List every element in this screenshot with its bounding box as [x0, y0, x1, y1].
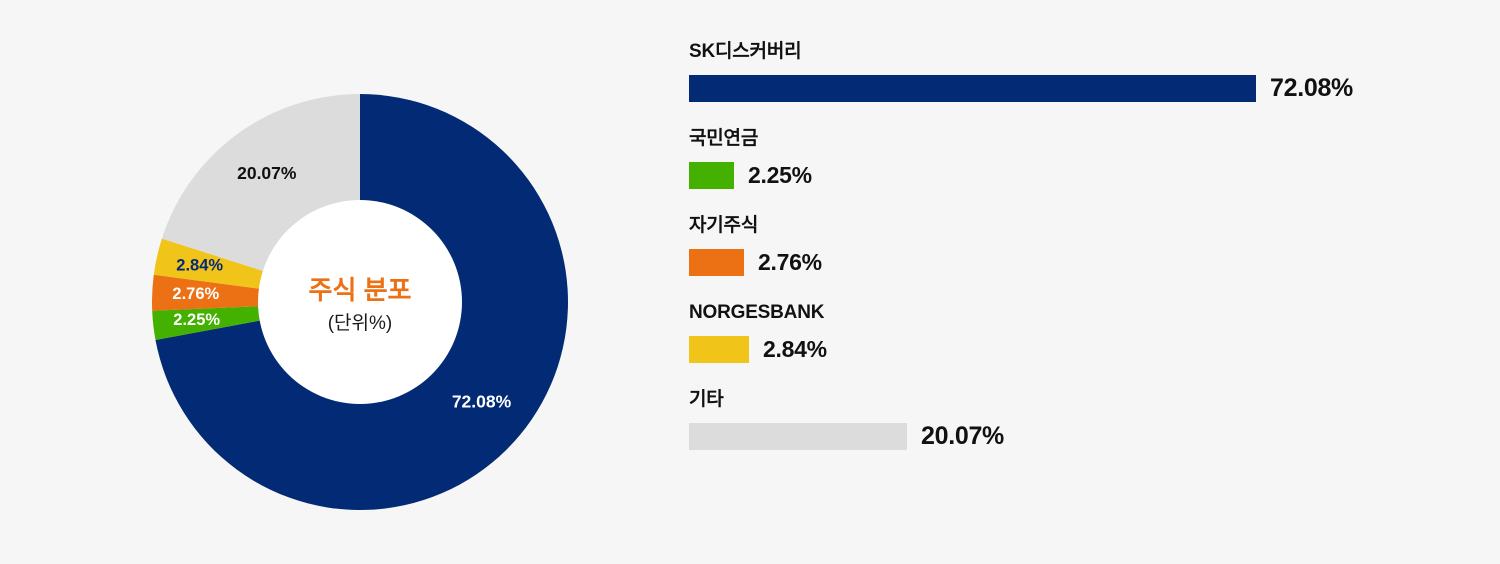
legend-item-row: 72.08%	[689, 75, 1449, 102]
legend-item-label: SK디스커버리	[689, 42, 1449, 61]
legend-item-label: 기타	[689, 390, 1449, 409]
legend-value: 2.76%	[758, 251, 822, 274]
legend-bar	[689, 423, 907, 450]
legend-list: SK디스커버리 72.08% 국민연금 2.25% 자기주식 2.76% NOR…	[689, 42, 1449, 450]
donut-label-기타: 20.07%	[237, 163, 297, 183]
legend-bar	[689, 162, 734, 189]
donut-label-norgesbank: 2.84%	[176, 256, 223, 274]
legend-item-row: 2.76%	[689, 249, 1449, 276]
legend-item-norgesbank[interactable]: NORGESBANK 2.84%	[689, 303, 1449, 363]
donut-label-sk디스커버리: 72.08%	[452, 392, 512, 412]
donut-center-subtitle: (단위%)	[328, 312, 393, 334]
legend-bar	[689, 249, 744, 276]
legend-item-기타[interactable]: 기타 20.07%	[689, 390, 1449, 450]
legend-item-자기주식[interactable]: 자기주식 2.76%	[689, 216, 1449, 276]
legend-item-국민연금[interactable]: 국민연금 2.25%	[689, 129, 1449, 189]
legend-item-label: 자기주식	[689, 216, 1449, 235]
chart-page: 72.08% 2.25% 2.76% 2.84% 20.07% 주식 분포 (단…	[0, 0, 1500, 564]
donut-label-국민연금: 2.25%	[173, 311, 220, 329]
legend-bar	[689, 336, 749, 363]
legend-item-sk디스커버리[interactable]: SK디스커버리 72.08%	[689, 42, 1449, 102]
legend-item-label: NORGESBANK	[689, 303, 1449, 322]
legend-bar	[689, 75, 1256, 102]
legend-item-row: 20.07%	[689, 423, 1449, 450]
legend-value: 20.07%	[921, 424, 1004, 449]
legend-item-row: 2.25%	[689, 162, 1449, 189]
donut-center-title: 주식 분포	[309, 275, 412, 305]
legend-value: 2.84%	[763, 338, 827, 361]
donut-chart: 72.08% 2.25% 2.76% 2.84% 20.07% 주식 분포 (단…	[152, 94, 568, 510]
legend-item-label: 국민연금	[689, 129, 1449, 148]
donut-label-자기주식: 2.76%	[172, 285, 219, 303]
legend-item-row: 2.84%	[689, 336, 1449, 363]
legend-value: 2.25%	[748, 164, 812, 187]
legend-value: 72.08%	[1270, 76, 1353, 101]
donut-chart-svg: 72.08% 2.25% 2.76% 2.84% 20.07% 주식 분포 (단…	[152, 94, 568, 510]
